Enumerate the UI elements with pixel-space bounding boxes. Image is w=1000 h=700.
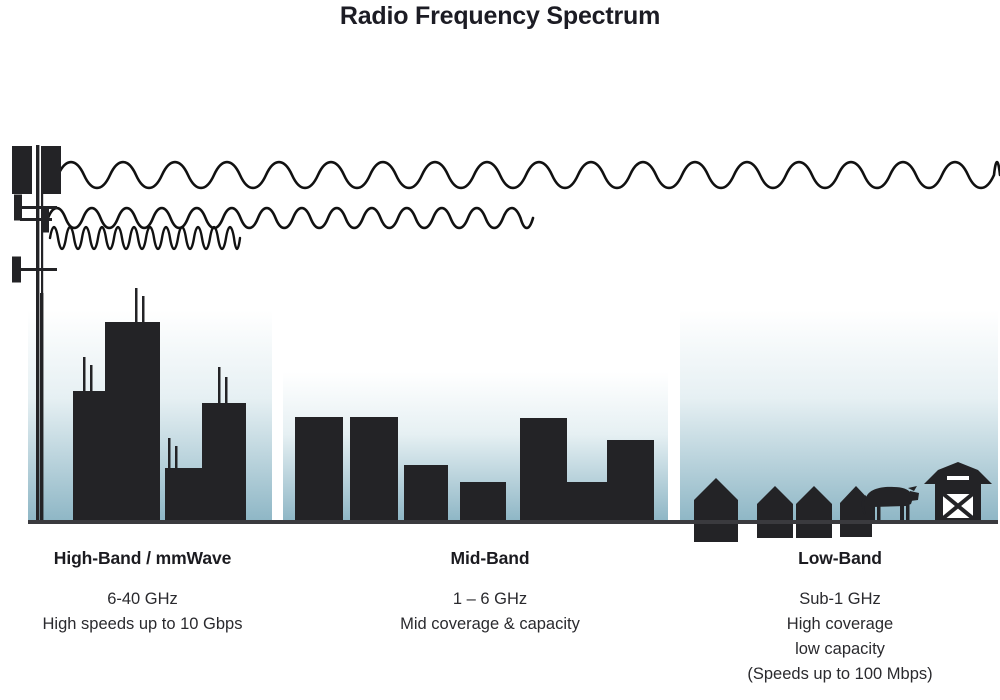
band-detail-low-band-0: High coverage [690, 612, 990, 637]
tower-mast-lower [40, 293, 43, 522]
radio-waves [48, 162, 1000, 249]
building-mid-7 [607, 440, 654, 520]
band-caption-high-band: High-Band / mmWave 6-40 GHz High speeds … [0, 548, 285, 637]
band-caption-mid-band: Mid-Band 1 – 6 GHz Mid coverage & capaci… [340, 548, 640, 637]
building-antenna-high-3-1 [168, 438, 171, 468]
building-antenna-high-4-2 [225, 377, 228, 403]
building-antenna-high-1-1 [83, 357, 86, 391]
tower-small-antenna-3 [12, 257, 21, 283]
band-detail-low-band-2: (Speeds up to 100 Mbps) [690, 662, 990, 687]
band-frequency-mid-band: 1 – 6 GHz [340, 587, 640, 612]
mid-frequency-wave [48, 208, 533, 228]
low-frequency-wave [58, 162, 1000, 188]
band-frequency-high-band: 6-40 GHz [0, 587, 285, 612]
band-title-low-band: Low-Band [690, 548, 990, 569]
band-detail-high-band-0: High speeds up to 10 Gbps [0, 612, 285, 637]
cow-leg-3 [900, 504, 904, 520]
building-mid-4 [460, 482, 506, 520]
band-detail-mid-band-0: Mid coverage & capacity [340, 612, 640, 637]
building-high-3 [165, 468, 205, 520]
building-high-2 [105, 322, 160, 520]
band-caption-low-band: Low-Band Sub-1 GHz High coverage low cap… [690, 548, 990, 687]
building-mid-3 [404, 465, 448, 520]
infographic-canvas: Radio Frequency Spectrum High-Band / mmW… [0, 0, 1000, 700]
barn-loft-window [947, 476, 969, 480]
cow-leg-4 [906, 504, 910, 520]
building-antenna-high-1-2 [90, 365, 93, 391]
ground-line [28, 520, 998, 524]
tower-mast-left [36, 145, 39, 522]
building-mid-5 [520, 418, 567, 520]
building-antenna-high-2-1 [135, 288, 138, 322]
tower-small-antenna-2 [41, 207, 49, 233]
tower-panel-antenna-2 [41, 146, 61, 194]
tower-small-antenna-1 [14, 195, 22, 221]
band-detail-low-band-1: low capacity [690, 637, 990, 662]
cow-leg-1 [871, 504, 875, 520]
building-mid-6 [567, 482, 607, 520]
cow-leg-2 [877, 504, 881, 520]
building-antenna-high-3-2 [175, 446, 178, 468]
band-title-high-band: High-Band / mmWave [0, 548, 285, 569]
building-mid-2 [350, 417, 398, 520]
building-antenna-high-2-2 [142, 296, 145, 322]
building-high-4 [202, 403, 246, 520]
tower-panel-antenna-1 [12, 146, 32, 194]
building-mid-1 [295, 417, 343, 520]
high-frequency-wave [50, 227, 240, 249]
band-title-mid-band: Mid-Band [340, 548, 640, 569]
building-antenna-high-4-1 [218, 367, 221, 403]
band-frequency-low-band: Sub-1 GHz [690, 587, 990, 612]
